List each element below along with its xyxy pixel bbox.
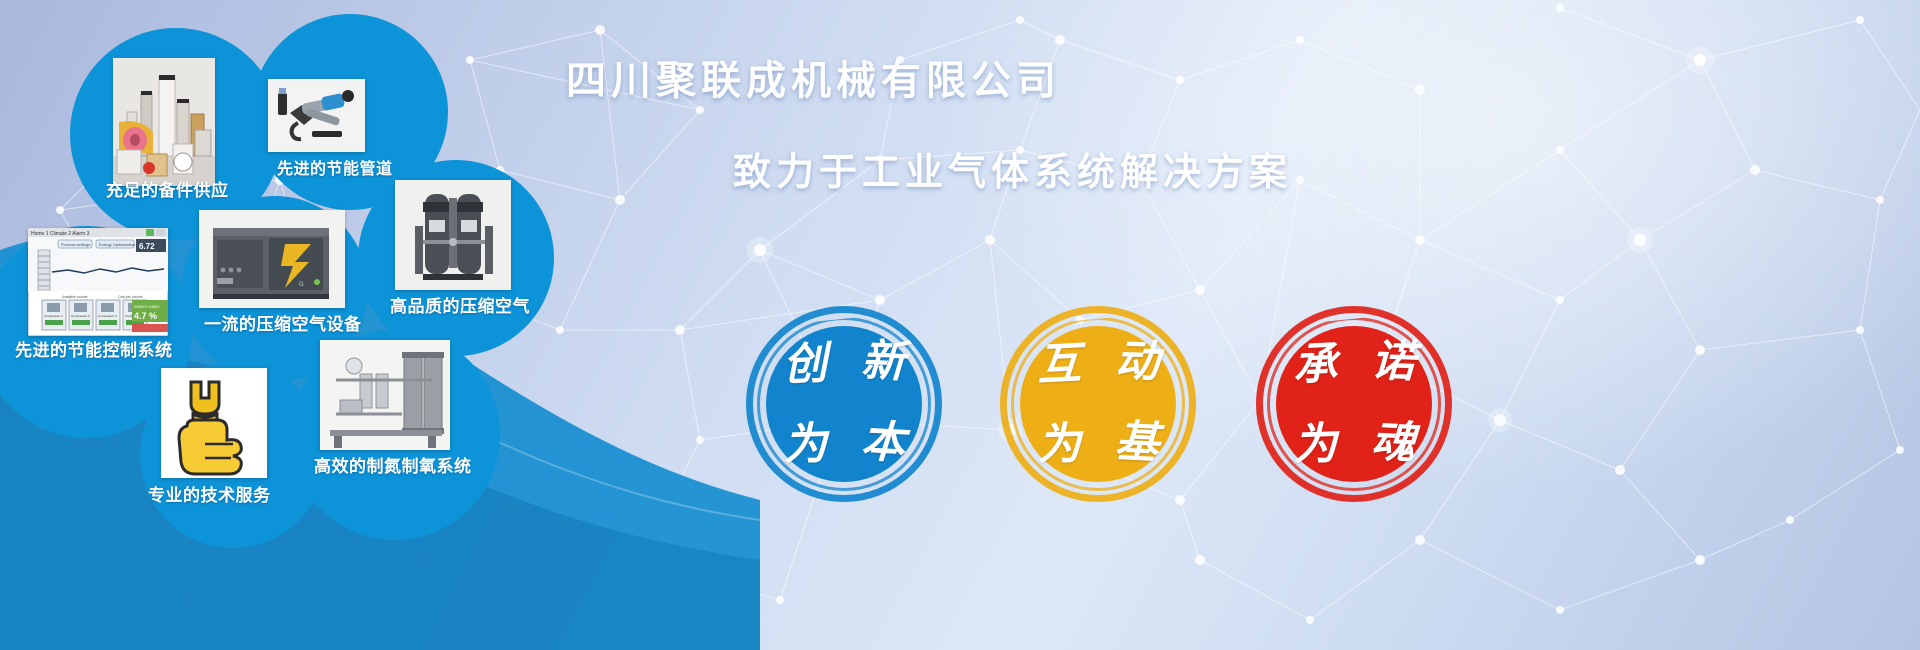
- product-caption-nitrogen-oxygen: 高效的制氮制氧系统: [314, 452, 472, 477]
- stamp-char-1: 承: [1292, 342, 1338, 388]
- product-thumb-control-system: Home 1 Climate 2 Alarm 3 Process setting…: [28, 228, 168, 336]
- stamp-char-2: 新: [860, 339, 906, 385]
- svg-text:Compressor 1: Compressor 1: [44, 314, 63, 318]
- product-caption-spare-parts: 充足的备件供应: [106, 176, 229, 201]
- svg-text:Energy Optimization: Energy Optimization: [99, 242, 135, 247]
- stamp-char-3: 为: [1292, 422, 1338, 468]
- stamp-slogan-text: 互 动 为 基: [1020, 326, 1176, 482]
- stamp-slogan-text: 承 诺 为 魂: [1276, 326, 1432, 482]
- svg-text:Available volume: Available volume: [62, 295, 88, 299]
- product-thumb-compressed-air: [395, 180, 511, 290]
- product-thumb-nitrogen-oxygen: [320, 340, 450, 450]
- product-thumb-compressor: G: [199, 210, 345, 308]
- svg-text:Home 1 Climate 2 Alarm 3: Home 1 Climate 2 Alarm 3: [31, 231, 90, 237]
- product-thumb-technical-service: [161, 368, 267, 478]
- stamp-slogan-text: 创 新 为 本: [766, 326, 922, 482]
- stamp-char-2: 诺: [1370, 339, 1416, 385]
- stamp-char-3: 为: [782, 422, 828, 468]
- svg-text:6.72: 6.72: [139, 242, 155, 251]
- stamp-char-1: 互: [1036, 342, 1082, 388]
- svg-text:G: G: [299, 282, 304, 288]
- product-caption-technical-service: 专业的技术服务: [148, 481, 271, 506]
- product-caption-compressor: 一流的压缩空气设备: [204, 310, 362, 335]
- slogan-stamp-interaction[interactable]: 互 动 为 基: [1000, 306, 1196, 502]
- product-caption-control-system: 先进的节能控制系统: [15, 336, 173, 361]
- promo-banner: 充足的备件供应 先进的节能管道 Home 1 Climate 2 Alarm 3: [0, 0, 1920, 650]
- svg-text:Compressor 3: Compressor 3: [98, 314, 117, 318]
- svg-text:Cost per volume: Cost per volume: [118, 295, 143, 299]
- page-subtitle: 致力于工业气体系统解决方案: [733, 141, 1292, 196]
- stamp-char-1: 创: [782, 342, 828, 388]
- product-thumb-spare-parts: [113, 58, 215, 186]
- stamp-char-4: 基: [1114, 420, 1160, 466]
- product-caption-compressed-air: 高品质的压缩空气: [390, 292, 530, 317]
- stamp-char-4: 魂: [1370, 420, 1416, 466]
- stamp-char-3: 为: [1036, 422, 1082, 468]
- svg-text:ENERGY INDEX: ENERGY INDEX: [134, 305, 160, 309]
- svg-text:Compressor 2: Compressor 2: [71, 314, 90, 318]
- stamp-char-2: 动: [1114, 339, 1160, 385]
- slogan-stamp-commitment[interactable]: 承 诺 为 魂: [1256, 306, 1452, 502]
- slogan-stamp-innovation[interactable]: 创 新 为 本: [746, 306, 942, 502]
- stamp-char-4: 本: [860, 420, 906, 466]
- product-thumb-piping: [268, 79, 365, 152]
- svg-text:4.7 %: 4.7 %: [134, 311, 157, 321]
- page-title: 四川聚联成机械有限公司: [566, 48, 1061, 106]
- product-caption-piping: 先进的节能管道: [277, 155, 393, 179]
- svg-text:Process settings: Process settings: [61, 242, 90, 247]
